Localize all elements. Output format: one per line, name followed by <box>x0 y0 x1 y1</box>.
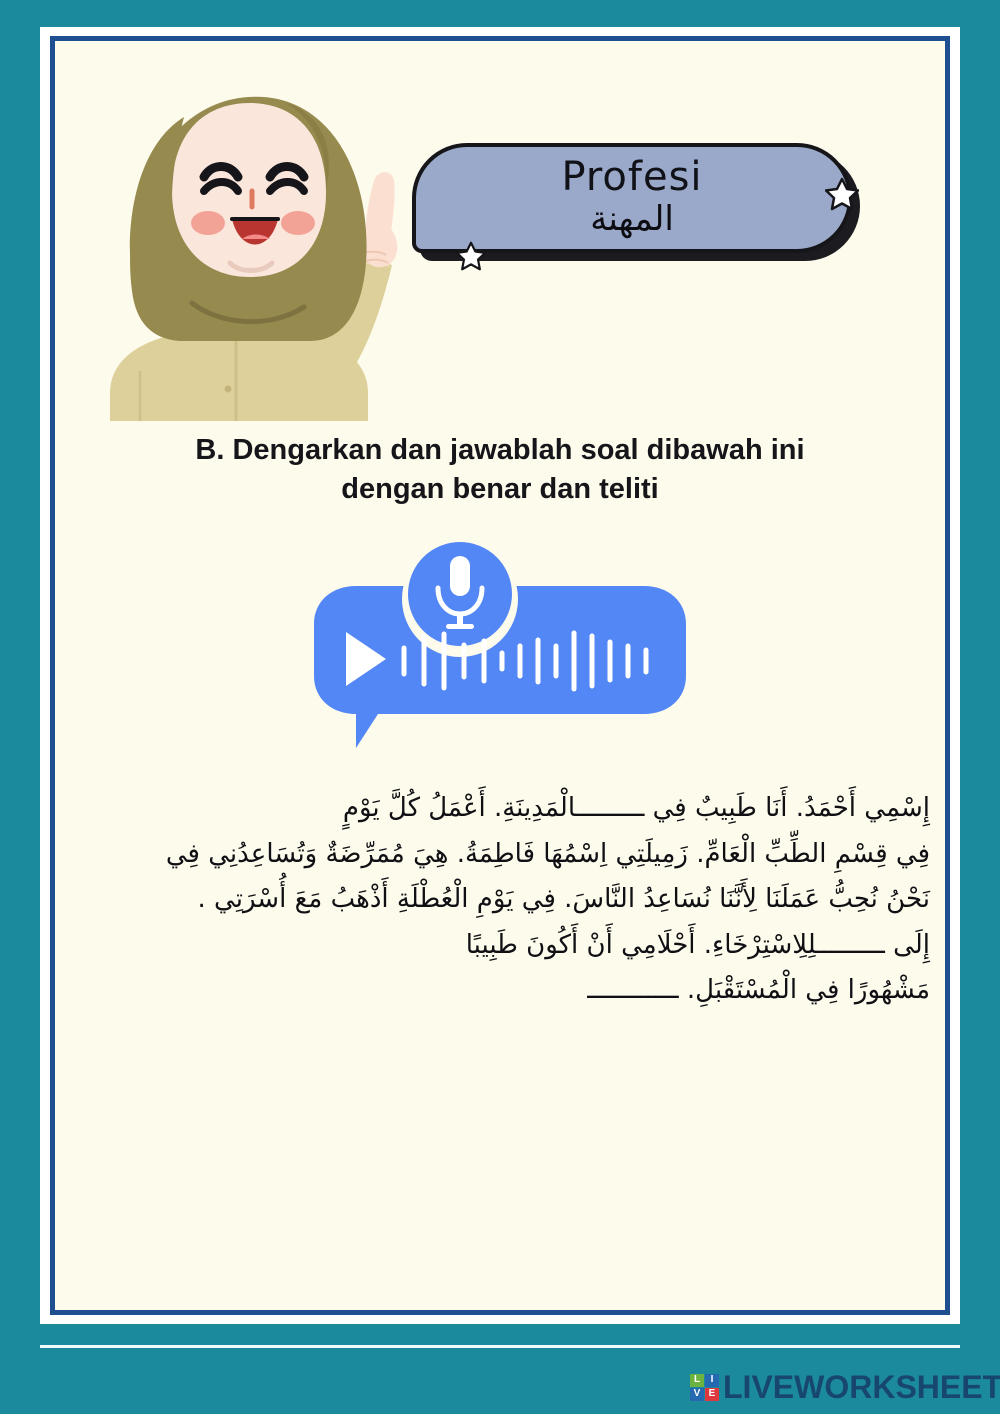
live-square-v: V <box>690 1388 704 1401</box>
live-square-i: I <box>705 1374 719 1387</box>
instruction-line-1: B. Dengarkan dan jawablah soal dibawah i… <box>115 431 885 470</box>
star-icon <box>825 177 859 211</box>
instruction-line-2: dengan benar dan teliti <box>115 470 885 509</box>
worksheet-page: Profesi المهنة B. Dengarkan dan jawablah… <box>55 41 945 1310</box>
page-title-indonesian: Profesi <box>561 156 702 198</box>
live-squares-icon: L I V E <box>690 1374 719 1401</box>
passage-line: إِلَى ـــــــــلِلِاسْتِرْخَاءِ. أَحْلَا… <box>70 923 930 969</box>
passage-line: مَشْهُورًا فِي الْمُسْتَقْبَلِ. ــــــــ… <box>70 968 930 1014</box>
voice-message-player[interactable] <box>300 536 700 751</box>
passage-line: إِسْمِي أَحْمَدُ. أَنَا طَبِيبٌ فِي ــــ… <box>70 786 930 832</box>
hijab-teacher-pointing-illustration <box>80 41 435 421</box>
title-bubble: Profesi المهنة <box>410 141 910 276</box>
liveworksheets-wordmark: LIVEWORKSHEETS <box>723 1369 1000 1406</box>
instruction-text: B. Dengarkan dan jawablah soal dibawah i… <box>115 431 885 509</box>
star-icon <box>456 241 486 271</box>
live-square-e: E <box>705 1388 719 1401</box>
page-title-arabic: المهنة <box>590 200 674 239</box>
footer-divider <box>40 1345 960 1348</box>
passage-line: فِي قِسْمِ الطِّبِّ الْعَامِّ. زَمِيلَتِ… <box>70 832 930 878</box>
passage-line: نَحْنُ نُحِبُّ عَمَلَنَا لِأَنَّنَا نُسَ… <box>70 877 930 923</box>
arabic-passage: إِسْمِي أَحْمَدُ. أَنَا طَبِيبٌ فِي ــــ… <box>70 786 930 1014</box>
liveworksheets-logo: L I V E LIVEWORKSHEETS <box>690 1367 1000 1407</box>
title-bubble-body: Profesi المهنة <box>412 143 852 253</box>
live-square-l: L <box>690 1374 704 1387</box>
